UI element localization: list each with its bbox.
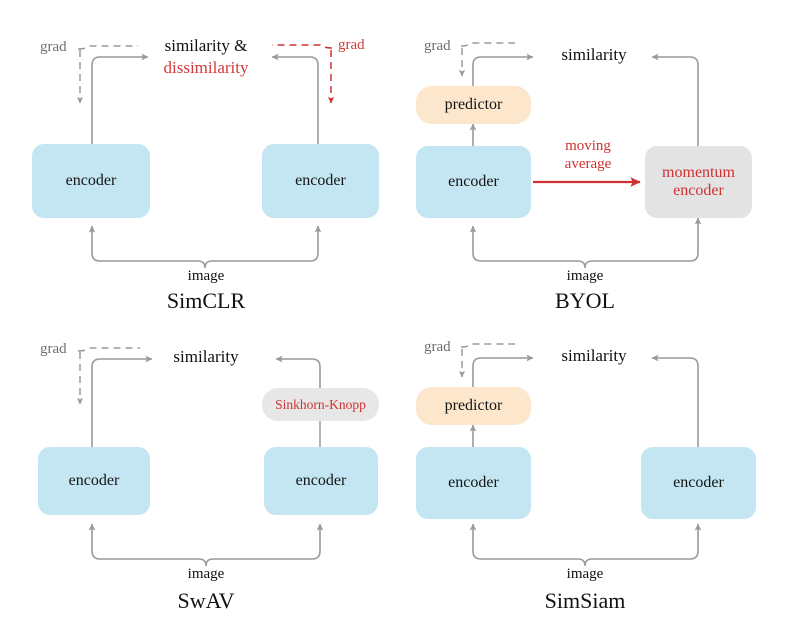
byol-encoder[interactable]: encoder [416, 146, 531, 218]
simsiam-encoder-left[interactable]: encoder [416, 447, 531, 519]
simsiam-right-forward-arrow [652, 358, 698, 447]
simclr-grad-left-label: grad [40, 39, 67, 56]
swav-sinkhorn-to-similarity [276, 359, 320, 388]
swav-grad-dash-top [78, 348, 140, 351]
byol-encoder-label: encoder [448, 173, 499, 191]
simclr-image-bracket [92, 253, 318, 268]
simsiam-encoder-left-label: encoder [448, 474, 499, 492]
byol-predictor-label: predictor [445, 96, 503, 114]
simclr-encoder-left-label: encoder [66, 172, 117, 190]
simsiam-predictor-label: predictor [445, 397, 503, 415]
figure-canvas: encoder encoder grad grad similarity & d… [0, 0, 790, 636]
swav-encoder-right-label: encoder [296, 472, 347, 490]
byol-image-label: image [567, 268, 604, 285]
simclr-encoder-right[interactable]: encoder [262, 144, 379, 218]
simsiam-predictor[interactable]: predictor [416, 387, 531, 425]
byol-momentum-encoder-label-line1: momentum [662, 164, 735, 182]
simclr-right-forward-arrow [272, 57, 318, 144]
byol-objective-label: similarity [561, 45, 626, 65]
byol-momentum-encoder[interactable]: momentum encoder [645, 146, 752, 218]
simsiam-panel-title: SimSiam [545, 588, 626, 614]
byol-moving-average-label: moving average [565, 138, 612, 173]
swav-encoder-left[interactable]: encoder [38, 447, 150, 515]
byol-moving-average-line2: average [565, 156, 612, 174]
simclr-grad-right-label: grad [338, 37, 365, 54]
swav-sinkhorn-knopp-label: Sinkhorn-Knopp [275, 397, 366, 412]
swav-image-bracket [92, 551, 320, 566]
swav-grad-label: grad [40, 341, 67, 358]
byol-image-bracket [473, 253, 698, 268]
simsiam-encoder-right-label: encoder [673, 474, 724, 492]
simclr-encoder-right-label: encoder [295, 172, 346, 190]
simclr-panel-title: SimCLR [167, 288, 245, 314]
swav-sinkhorn-knopp[interactable]: Sinkhorn-Knopp [262, 388, 379, 421]
simsiam-objective-label: similarity [561, 346, 626, 366]
simclr-encoder-left[interactable]: encoder [32, 144, 150, 218]
swav-encoder-right[interactable]: encoder [264, 447, 378, 515]
simclr-objective-line2: dissimilarity [164, 58, 249, 78]
byol-grad-label: grad [424, 38, 451, 55]
simsiam-image-label: image [567, 566, 604, 583]
byol-momentum-encoder-label-line2: encoder [673, 182, 724, 200]
swav-image-label: image [188, 566, 225, 583]
simsiam-image-bracket [473, 551, 698, 566]
simclr-objective-line1: similarity & [165, 36, 248, 56]
simsiam-encoder-right[interactable]: encoder [641, 447, 756, 519]
swav-panel-title: SwAV [177, 588, 234, 614]
byol-predictor-to-similarity [473, 57, 533, 86]
byol-moving-average-line1: moving [565, 138, 612, 156]
byol-panel-title: BYOL [555, 288, 615, 314]
simsiam-predictor-to-similarity [473, 358, 533, 387]
swav-objective-label: similarity [173, 347, 238, 367]
byol-momentum-to-similarity [652, 57, 698, 146]
byol-predictor[interactable]: predictor [416, 86, 531, 124]
simsiam-grad-dash-top [461, 344, 515, 347]
connector-layer [0, 0, 790, 636]
swav-encoder-left-label: encoder [69, 472, 120, 490]
simclr-image-label: image [188, 268, 225, 285]
simclr-left-grad-dash-top [78, 46, 138, 49]
swav-left-forward-arrow [92, 359, 152, 447]
byol-grad-dash-top [461, 43, 515, 46]
simclr-left-forward-arrow [92, 57, 148, 144]
simsiam-grad-label: grad [424, 339, 451, 356]
simclr-right-grad-dash-top [272, 45, 332, 48]
